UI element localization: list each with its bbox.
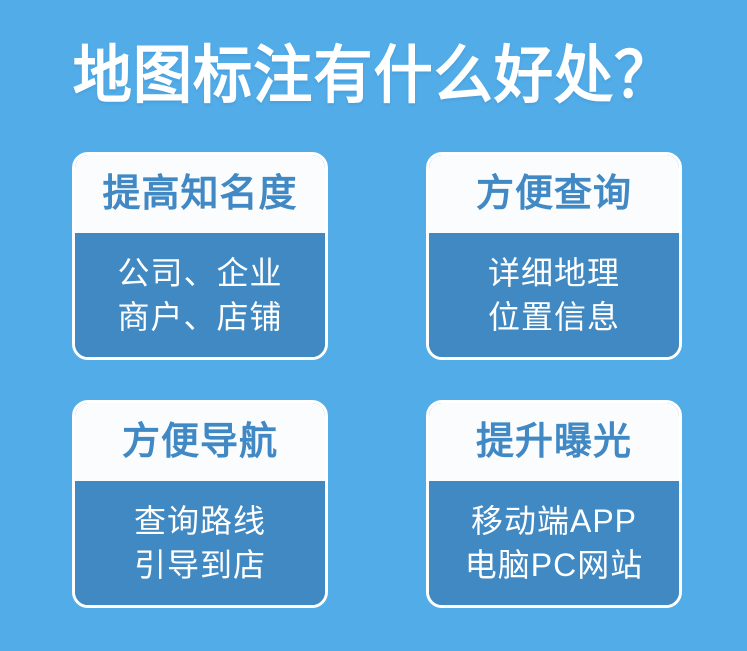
benefit-card-1-body-line-1: 公司、企业 [117, 251, 282, 295]
benefit-card-4[interactable]: 提升曝光 移动端APP 电脑PC网站 [426, 400, 682, 608]
benefit-card-3-header: 方便导航 [75, 403, 325, 481]
benefit-card-2[interactable]: 方便查询 详细地理 位置信息 [426, 152, 682, 360]
benefit-card-3-body: 查询路线 引导到店 [75, 481, 325, 605]
benefit-card-3-body-line-2: 引导到店 [134, 543, 266, 587]
benefit-card-3[interactable]: 方便导航 查询路线 引导到店 [72, 400, 328, 608]
benefit-card-2-header: 方便查询 [429, 155, 679, 233]
benefit-card-1-body: 公司、企业 商户、店铺 [75, 233, 325, 357]
poster-canvas: 地图标注有什么好处？ 提高知名度 公司、企业 商户、店铺 方便查询 详细地理 位… [0, 0, 747, 651]
benefit-card-2-body-line-1: 详细地理 [488, 251, 620, 295]
benefit-card-4-body-line-1: 移动端APP [471, 499, 637, 543]
benefit-card-1[interactable]: 提高知名度 公司、企业 商户、店铺 [72, 152, 328, 360]
benefit-card-grid: 提高知名度 公司、企业 商户、店铺 方便查询 详细地理 位置信息 方便导航 查询… [72, 152, 682, 608]
benefit-card-4-header: 提升曝光 [429, 403, 679, 481]
benefit-card-1-body-line-2: 商户、店铺 [117, 295, 282, 339]
benefit-card-4-body-line-2: 电脑PC网站 [465, 543, 643, 587]
benefit-card-3-body-line-1: 查询路线 [134, 499, 266, 543]
benefit-card-4-body: 移动端APP 电脑PC网站 [429, 481, 679, 605]
benefit-card-2-body-line-2: 位置信息 [488, 295, 620, 339]
page-title: 地图标注有什么好处？ [22, 40, 724, 112]
benefit-card-1-header: 提高知名度 [75, 155, 325, 233]
benefit-card-2-body: 详细地理 位置信息 [429, 233, 679, 357]
